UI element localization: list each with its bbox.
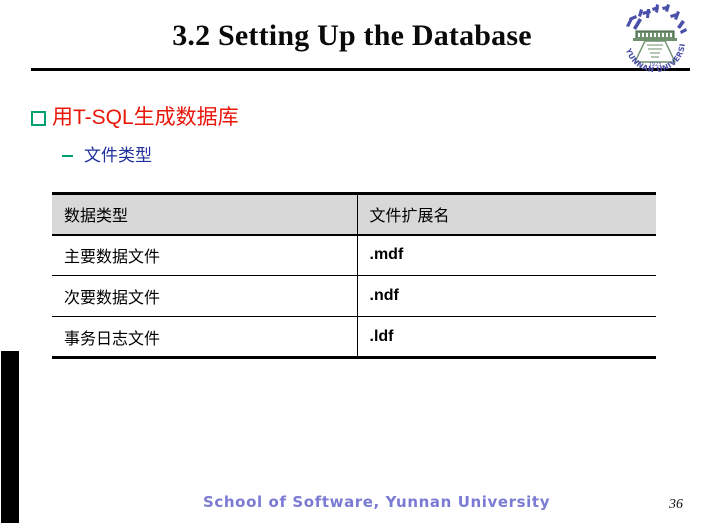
table-header-row: 数据类型 文件扩展名 — [52, 194, 656, 235]
title-divider — [31, 68, 690, 71]
page-title: 3.2 Setting Up the Database — [0, 17, 704, 55]
presentation-slide: 3.2 Setting Up the Database — [0, 0, 704, 523]
file-types-table: 数据类型 文件扩展名 主要数据文件 .mdf 次要数据文件 .ndf 事务日志文… — [52, 192, 656, 359]
left-decorative-bar — [1, 351, 19, 523]
bullet-level-1-label: 用T-SQL生成数据库 — [52, 105, 239, 131]
bullet-level-2-label: 文件类型 — [84, 144, 152, 168]
bullet-level-1: 用T-SQL生成数据库 — [30, 105, 239, 131]
column-header-file-extension: 文件扩展名 — [357, 194, 656, 235]
table-row: 主要数据文件 .mdf — [52, 235, 656, 276]
footer-organization-label: School of Software, Yunnan University — [203, 493, 550, 512]
hollow-square-bullet-icon — [30, 105, 47, 131]
yunnan-university-seal-icon: 1923 YUNNAN UNIVERSITY — [617, 2, 693, 76]
table-row: 次要数据文件 .ndf — [52, 276, 656, 317]
cell-file-extension: .ldf — [357, 317, 656, 358]
bullet-level-2: 文件类型 — [62, 144, 152, 168]
column-header-data-type: 数据类型 — [52, 194, 357, 235]
cell-data-type: 事务日志文件 — [52, 317, 357, 358]
table-row: 事务日志文件 .ldf — [52, 317, 656, 358]
cell-data-type: 主要数据文件 — [52, 235, 357, 276]
page-number: 36 — [669, 496, 683, 514]
cell-data-type: 次要数据文件 — [52, 276, 357, 317]
cell-file-extension: .ndf — [357, 276, 656, 317]
dash-bullet-icon — [62, 144, 78, 168]
cell-file-extension: .mdf — [357, 235, 656, 276]
